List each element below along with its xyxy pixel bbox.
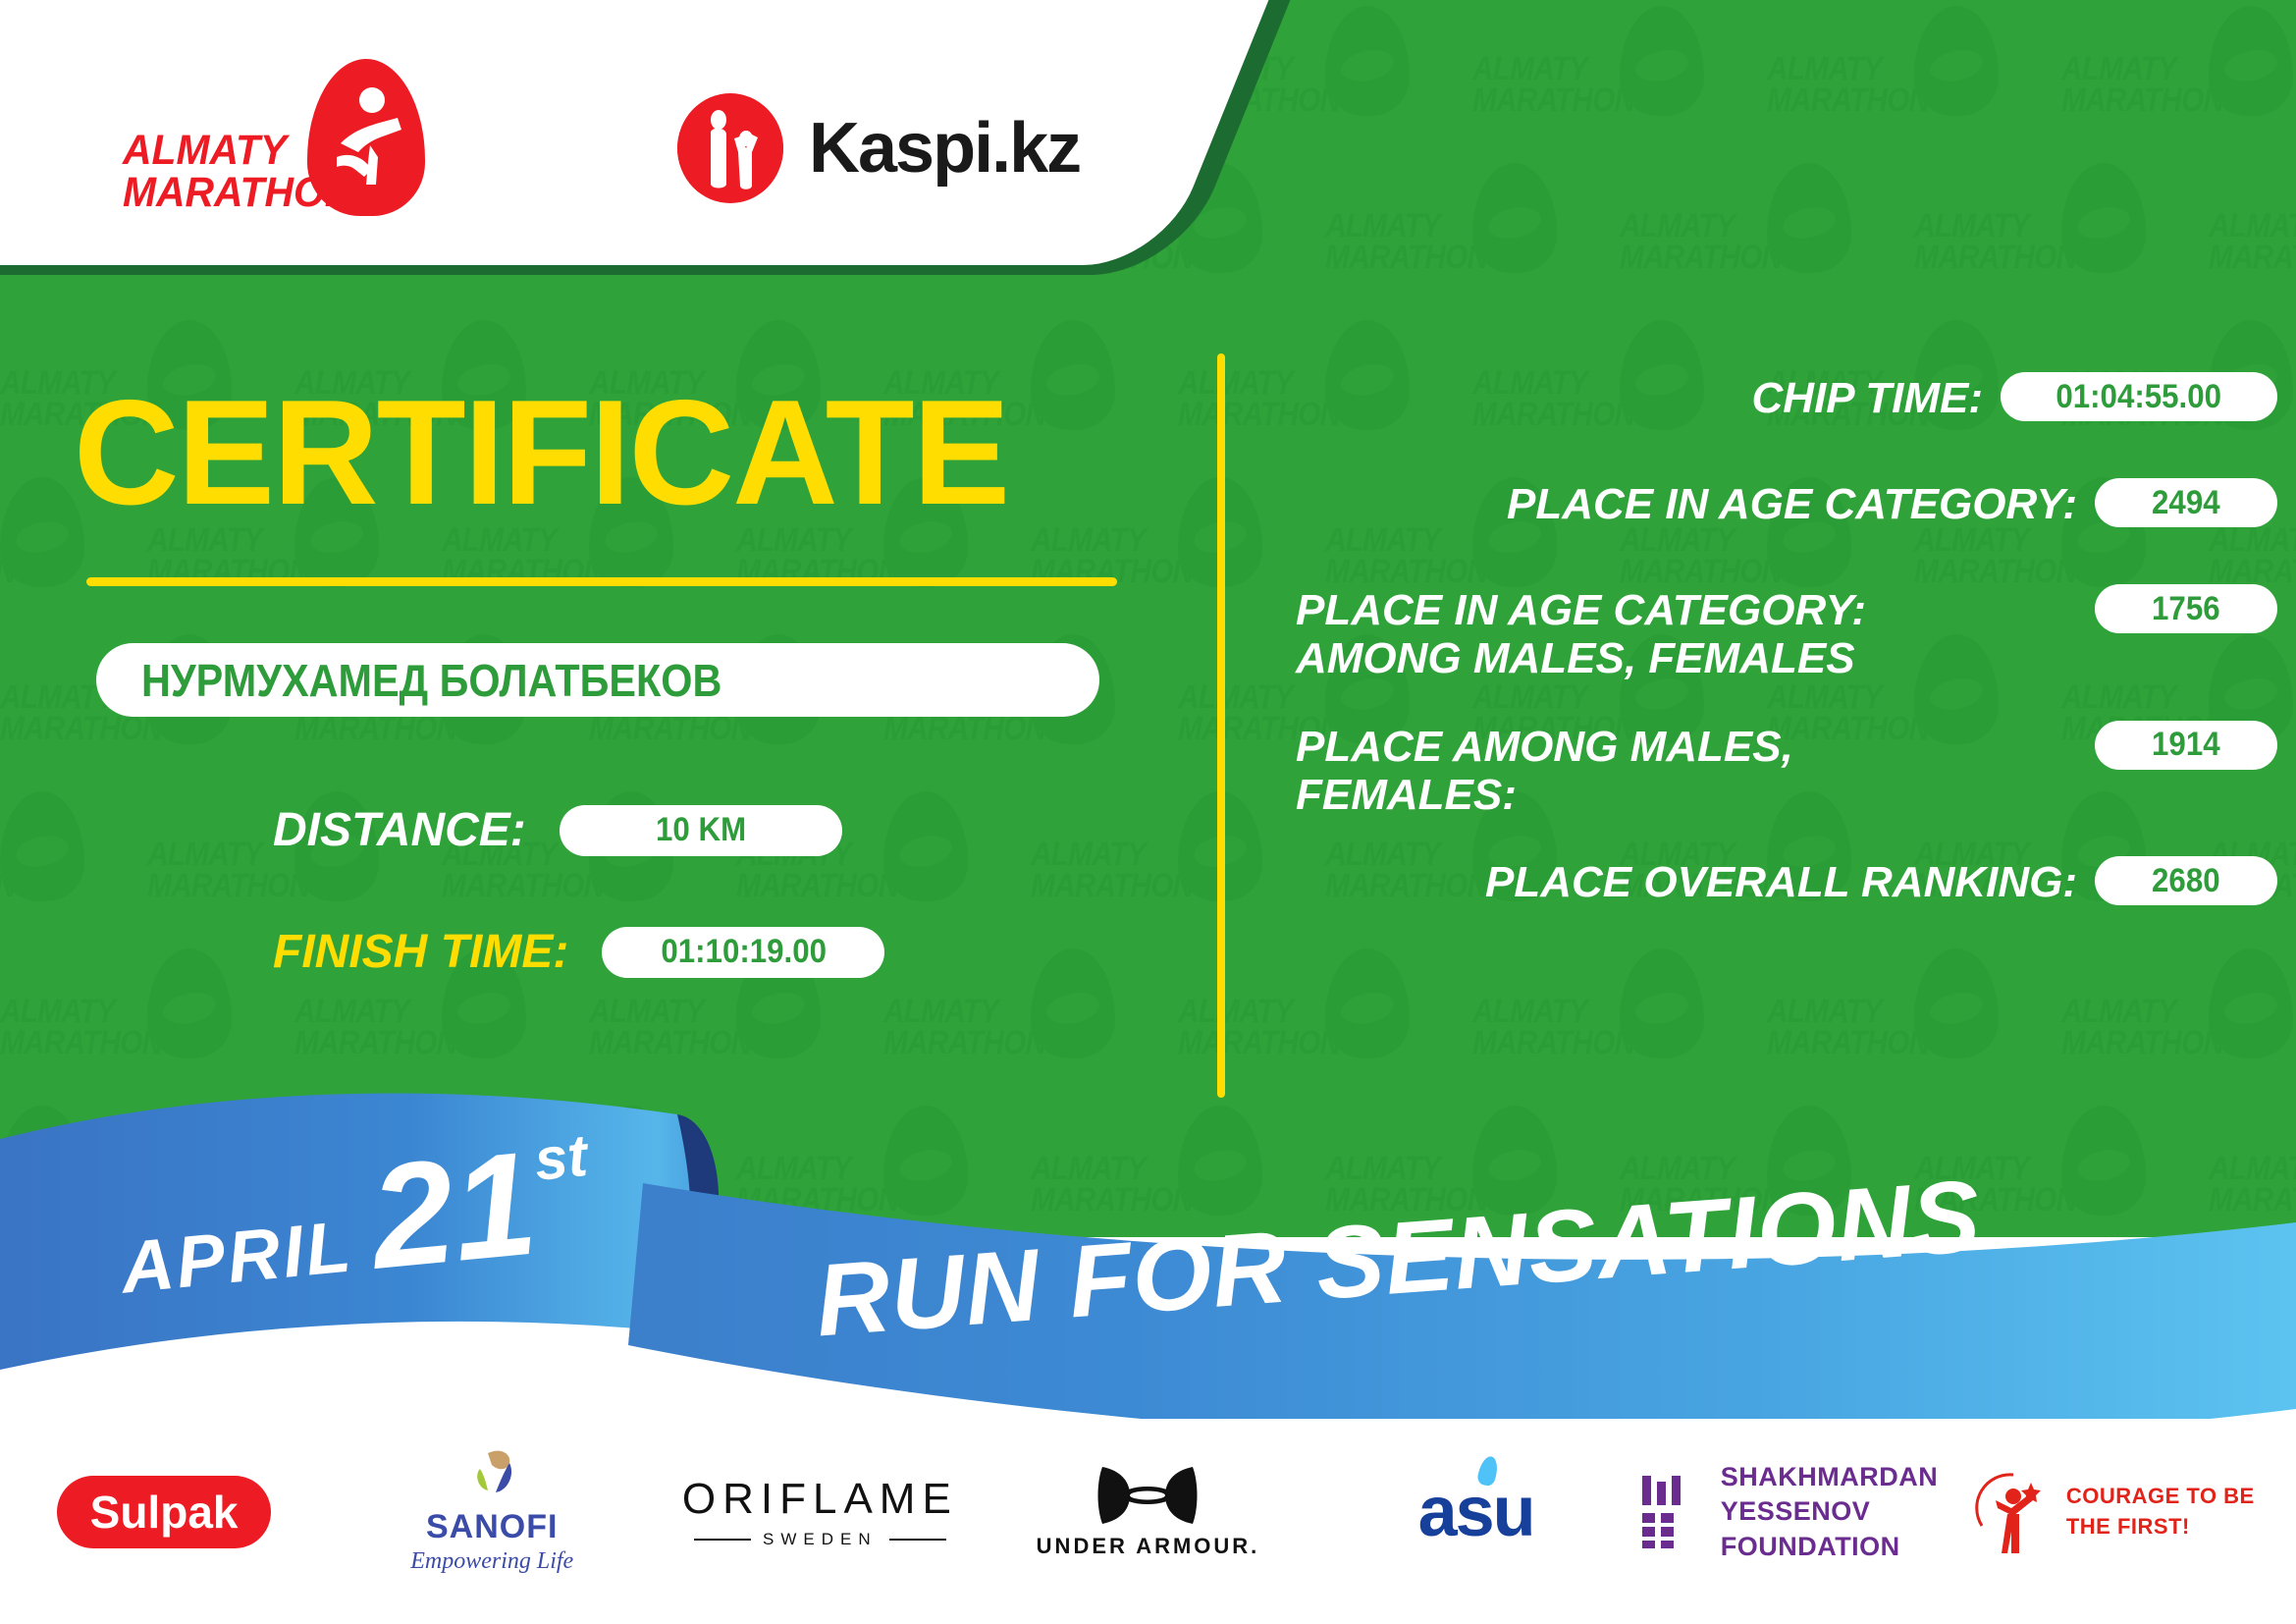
watermark-droplet-icon [1031, 948, 1115, 1058]
yessenov-name: SHAKHMARDAN YESSENOV [1721, 1460, 1968, 1529]
asu-wordmark: asu [1418, 1472, 1534, 1552]
watermark-droplet-icon [2061, 163, 2146, 273]
kaspi-figures-icon [677, 93, 783, 203]
corporate-fund-wordmark: COURAGE TO BE THE FIRST! [2066, 1482, 2296, 1543]
finish-time-label: FINISH TIME: [273, 925, 568, 979]
distance-value-pill: 10 KM [560, 805, 842, 856]
finish-time-value: 01:10:19.00 [661, 933, 827, 971]
watermark-tile: ALMATYMARATHON [1031, 471, 1325, 638]
watermark-text: ALMATYMARATHON [1620, 210, 1758, 274]
watermark-text: ALMATYMARATHON [1767, 53, 1905, 117]
under-armour-icon [1095, 1465, 1201, 1526]
watermark-tile: ALMATYMARATHON [1914, 157, 2209, 324]
watermark-droplet-icon [1620, 6, 1704, 116]
watermark-tile: ALMATYMARATHON [1472, 0, 1767, 167]
stat-value: 1914 [2152, 726, 2220, 764]
stat-value-pill: 2494 [2095, 478, 2277, 527]
watermark-text: ALMATYMARATHON [294, 996, 433, 1059]
oriflame-rule-right [889, 1539, 946, 1541]
oriflame-wordmark: ORIFLAME [682, 1475, 958, 1524]
watermark-text: ALMATYMARATHON [1914, 210, 2053, 274]
stat-value-pill: 1914 [2095, 721, 2277, 770]
yessenov-glyph-icon [1640, 1476, 1701, 1548]
marathon-wordmark-line2: MARATHON [123, 172, 353, 214]
watermark-droplet-icon [0, 791, 84, 901]
asu-label: asu [1418, 1473, 1534, 1551]
yessenov-logo: SHAKHMARDAN YESSENOV FOUNDATION [1640, 1460, 1968, 1563]
yessenov-bars-icon [1640, 1476, 1701, 1548]
watermark-droplet-icon [1767, 163, 1851, 273]
stat-value-pill: 01:04:55.00 [2001, 372, 2277, 421]
yessenov-wordmark: SHAKHMARDAN YESSENOV FOUNDATION [1721, 1460, 1968, 1563]
stat-row: PLACE AMONG MALES,FEMALES: 1914 [1296, 717, 2277, 820]
event-day: 21 [365, 1136, 541, 1283]
kaspi-wordmark: Kaspi.kz [809, 108, 1080, 189]
sponsor-sulpak: Sulpak [0, 1434, 328, 1591]
watermark-text: ALMATYMARATHON [1178, 996, 1316, 1059]
sanofi-mark-icon [460, 1449, 523, 1504]
watermark-droplet-icon [1325, 948, 1410, 1058]
watermark-droplet-icon [1325, 6, 1410, 116]
kaspi-people-icon [677, 93, 783, 203]
watermark-tile: ALMATYMARATHON [2209, 157, 2296, 324]
watermark-text: ALMATYMARATHON [1767, 996, 1905, 1059]
event-day-suffix: st [532, 1121, 591, 1194]
watermark-text: ALMATYMARATHON [589, 996, 727, 1059]
stat-value: 1756 [2152, 590, 2220, 628]
cf-person-star-icon [1968, 1467, 2055, 1557]
stat-label: CHIP TIME: [1296, 368, 1983, 422]
stat-value-pill: 2680 [2095, 856, 2277, 905]
watermark-text: ALMATYMARATHON [1472, 996, 1611, 1059]
watermark-text: ALMATYMARATHON [1325, 210, 1464, 274]
yessenov-subtitle: FOUNDATION [1721, 1530, 1968, 1564]
watermark-droplet-icon [1914, 948, 1999, 1058]
sponsor-yessenov-foundation: SHAKHMARDAN YESSENOV FOUNDATION [1640, 1434, 1968, 1591]
watermark-text: ALMATYMARATHON [1031, 839, 1169, 902]
watermark-text: ALMATYMARATHON [2061, 996, 2200, 1059]
watermark-tile: ALMATYMARATHON [0, 785, 147, 952]
watermark-tile: ALMATYMARATHON [1767, 0, 2061, 167]
watermark-droplet-icon [147, 948, 232, 1058]
oriflame-subline: SWEDEN [694, 1530, 946, 1549]
watermark-droplet-icon [1031, 320, 1115, 430]
watermark-text: ALMATYMARATHON [1472, 53, 1611, 117]
sanofi-leaf-icon [460, 1449, 523, 1504]
watermark-tile: ALMATYMARATHON [1031, 785, 1325, 952]
watermark-text: ALMATYMARATHON [2209, 210, 2296, 274]
event-ribbon: APRIL 21 st RUN FOR SENSATIONS [0, 1085, 2296, 1419]
watermark-droplet-icon [883, 791, 968, 901]
sponsor-sanofi: SANOFI Empowering Life [328, 1434, 656, 1591]
oriflame-rule-left [694, 1539, 751, 1541]
stat-value: 01:04:55.00 [2056, 378, 2222, 416]
stat-row: PLACE IN AGE CATEGORY: 2494 [1296, 474, 2277, 547]
watermark-tile: ALMATYMARATHON [2061, 0, 2296, 167]
certificate-canvas: ALMATYMARATHONALMATYMARATHONALMATYMARATH… [0, 0, 2296, 1624]
stat-value-pill: 1756 [2095, 584, 2277, 633]
watermark-tile: ALMATYMARATHON [1620, 157, 1914, 324]
stat-label: PLACE IN AGE CATEGORY: [1296, 474, 2077, 528]
sponsor-under-armour: UNDER ARMOUR. [984, 1434, 1311, 1591]
sponsor-asu: asu [1312, 1434, 1640, 1591]
stat-value: 2680 [2152, 862, 2220, 900]
header-content: ALMATY MARATHON Kaspi.kz [0, 0, 1276, 270]
watermark-text: ALMATYMARATHON [0, 996, 138, 1059]
finish-time-row: FINISH TIME: 01:10:19.00 [273, 925, 884, 979]
stats-list: CHIP TIME: 01:04:55.00 PLACE IN AGE CATE… [1296, 368, 2277, 958]
corporate-fund-figure-icon [1968, 1467, 2055, 1557]
stat-row: PLACE OVERALL RANKING: 2680 [1296, 852, 2277, 925]
watermark-droplet-icon [1620, 948, 1704, 1058]
watermark-tile: ALMATYMARATHON [1325, 157, 1620, 324]
distance-value: 10 KM [656, 811, 746, 849]
watermark-droplet-icon [2209, 6, 2293, 116]
stat-label: PLACE IN AGE CATEGORY:AMONG MALES, FEMAL… [1296, 580, 2077, 683]
under-armour-wordmark: UNDER ARMOUR. [1037, 1534, 1260, 1559]
sponsor-corporate-fund: COURAGE TO BE THE FIRST! [1968, 1434, 2296, 1591]
stat-label: PLACE AMONG MALES,FEMALES: [1296, 717, 2077, 820]
sponsor-oriflame: ORIFLAME SWEDEN [656, 1434, 984, 1591]
sanofi-wordmark: SANOFI [426, 1508, 558, 1546]
vertical-divider [1217, 353, 1225, 1098]
title-underline [86, 577, 1117, 586]
watermark-text: ALMATYMARATHON [147, 839, 286, 902]
stat-row: CHIP TIME: 01:04:55.00 [1296, 368, 2277, 441]
oriflame-country: SWEDEN [763, 1530, 878, 1549]
watermark-droplet-icon [1472, 163, 1557, 273]
watermark-droplet-icon [2209, 948, 2293, 1058]
stat-row: PLACE IN AGE CATEGORY:AMONG MALES, FEMAL… [1296, 580, 2277, 683]
participant-name-field: НУРМУХАМЕД БОЛАТБЕКОВ [96, 643, 1099, 717]
sponsor-bar: Sulpak SANOFI Empowering Life ORIFLAME S… [0, 1424, 2296, 1600]
marathon-wordmark: ALMATY MARATHON [123, 130, 353, 214]
finish-time-value-pill: 01:10:19.00 [602, 927, 884, 978]
distance-row: DISTANCE: 10 KM [273, 803, 842, 857]
participant-name: НУРМУХАМЕД БОЛАТБЕКОВ [141, 654, 721, 707]
almaty-marathon-logo: ALMATY MARATHON [123, 59, 447, 221]
stat-value: 2494 [2152, 484, 2220, 522]
watermark-text: ALMATYMARATHON [883, 996, 1022, 1059]
page-title: CERTIFICATE [74, 378, 1008, 527]
sulpak-wordmark: Sulpak [57, 1476, 272, 1548]
watermark-droplet-icon [1914, 6, 1999, 116]
watermark-text: ALMATYMARATHON [2061, 53, 2200, 117]
marathon-wordmark-line1: ALMATY [123, 130, 353, 172]
distance-label: DISTANCE: [273, 803, 526, 857]
sanofi-tagline: Empowering Life [410, 1548, 573, 1575]
corporate-fund-logo: COURAGE TO BE THE FIRST! [1968, 1467, 2296, 1557]
ua-logo-icon [1095, 1465, 1201, 1526]
watermark-droplet-icon [0, 477, 84, 587]
stat-label: PLACE OVERALL RANKING: [1296, 852, 2077, 906]
kaspi-logo: Kaspi.kz [677, 93, 1080, 203]
